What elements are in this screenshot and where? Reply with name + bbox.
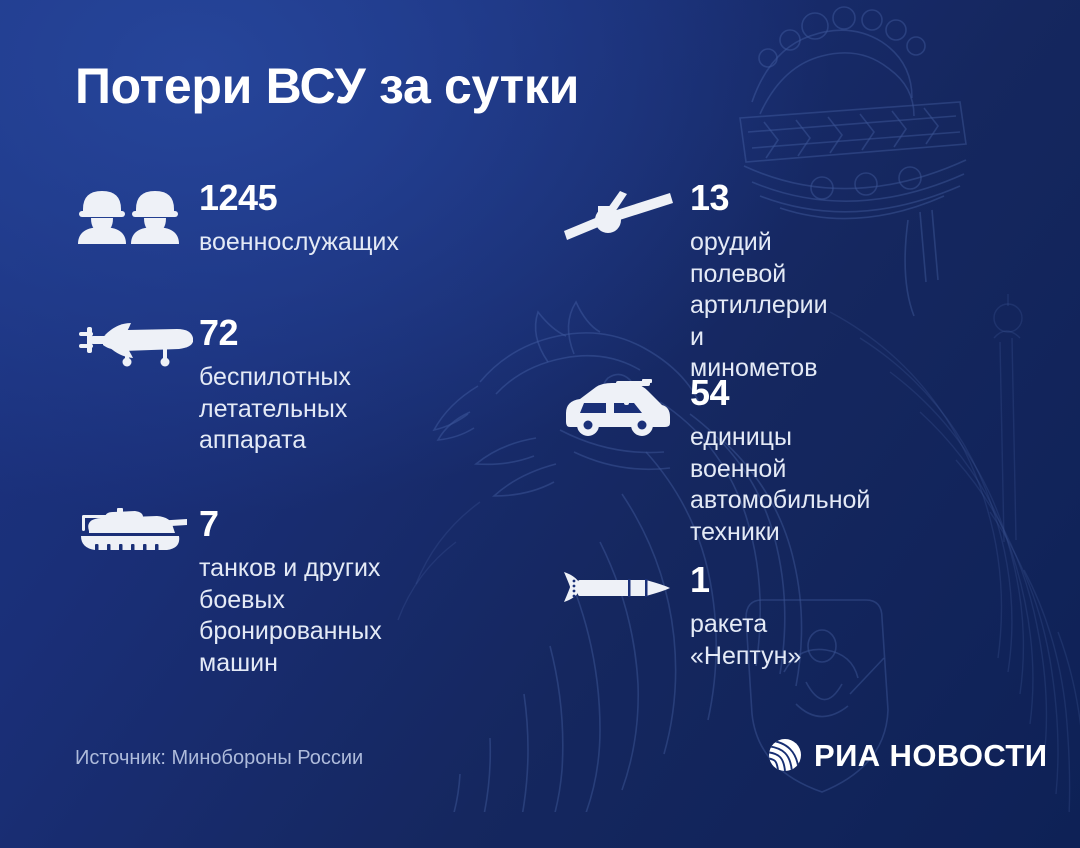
stat-label-missile: ракета «Нептун» bbox=[690, 609, 801, 672]
stat-body-tanks: 7 танков и других боевых бронированных м… bbox=[199, 506, 382, 679]
page-title: Потери ВСУ за сутки bbox=[75, 59, 579, 114]
infographic-canvas: Потери ВСУ за сутки bbox=[0, 0, 1080, 848]
artillery-gun-icon bbox=[560, 184, 680, 242]
soldiers-icon bbox=[75, 188, 185, 244]
stat-label-tanks: танков и других боевых бронированных маш… bbox=[199, 553, 382, 679]
stat-body-missile: 1 ракета «Нептун» bbox=[690, 562, 801, 672]
ria-logo-text: РИА НОВОСТИ bbox=[814, 740, 1047, 771]
stat-value-vehicles: 54 bbox=[690, 375, 870, 411]
stat-label-drones: беспилотных летательных аппарата bbox=[199, 362, 351, 457]
ria-swirl-icon bbox=[768, 738, 802, 772]
ria-novosti-logo[interactable]: РИА НОВОСТИ bbox=[768, 738, 1047, 772]
missile-icon bbox=[560, 568, 672, 610]
stat-value-missile: 1 bbox=[690, 562, 801, 598]
stat-body-personnel: 1245 военнослужащих bbox=[199, 180, 399, 259]
stat-value-drones: 72 bbox=[199, 315, 351, 351]
tank-icon bbox=[75, 500, 195, 558]
stat-body-artillery: 13 орудий полевой артиллерии и минометов bbox=[690, 180, 828, 385]
source-note: Источник: Минобороны России bbox=[75, 748, 363, 768]
drone-icon bbox=[75, 319, 193, 367]
stat-label-artillery: орудий полевой артиллерии и минометов bbox=[690, 227, 828, 385]
stat-value-artillery: 13 bbox=[690, 180, 828, 216]
stat-label-personnel: военнослужащих bbox=[199, 227, 399, 259]
stat-value-personnel: 1245 bbox=[199, 180, 399, 216]
stat-label-vehicles: единицы военной автомобильной техники bbox=[690, 422, 870, 548]
stat-body-vehicles: 54 единицы военной автомобильной техники bbox=[690, 375, 870, 548]
stat-value-tanks: 7 bbox=[199, 506, 382, 542]
military-vehicle-icon bbox=[560, 379, 672, 437]
stat-body-drones: 72 беспилотных летательных аппарата bbox=[199, 315, 351, 457]
